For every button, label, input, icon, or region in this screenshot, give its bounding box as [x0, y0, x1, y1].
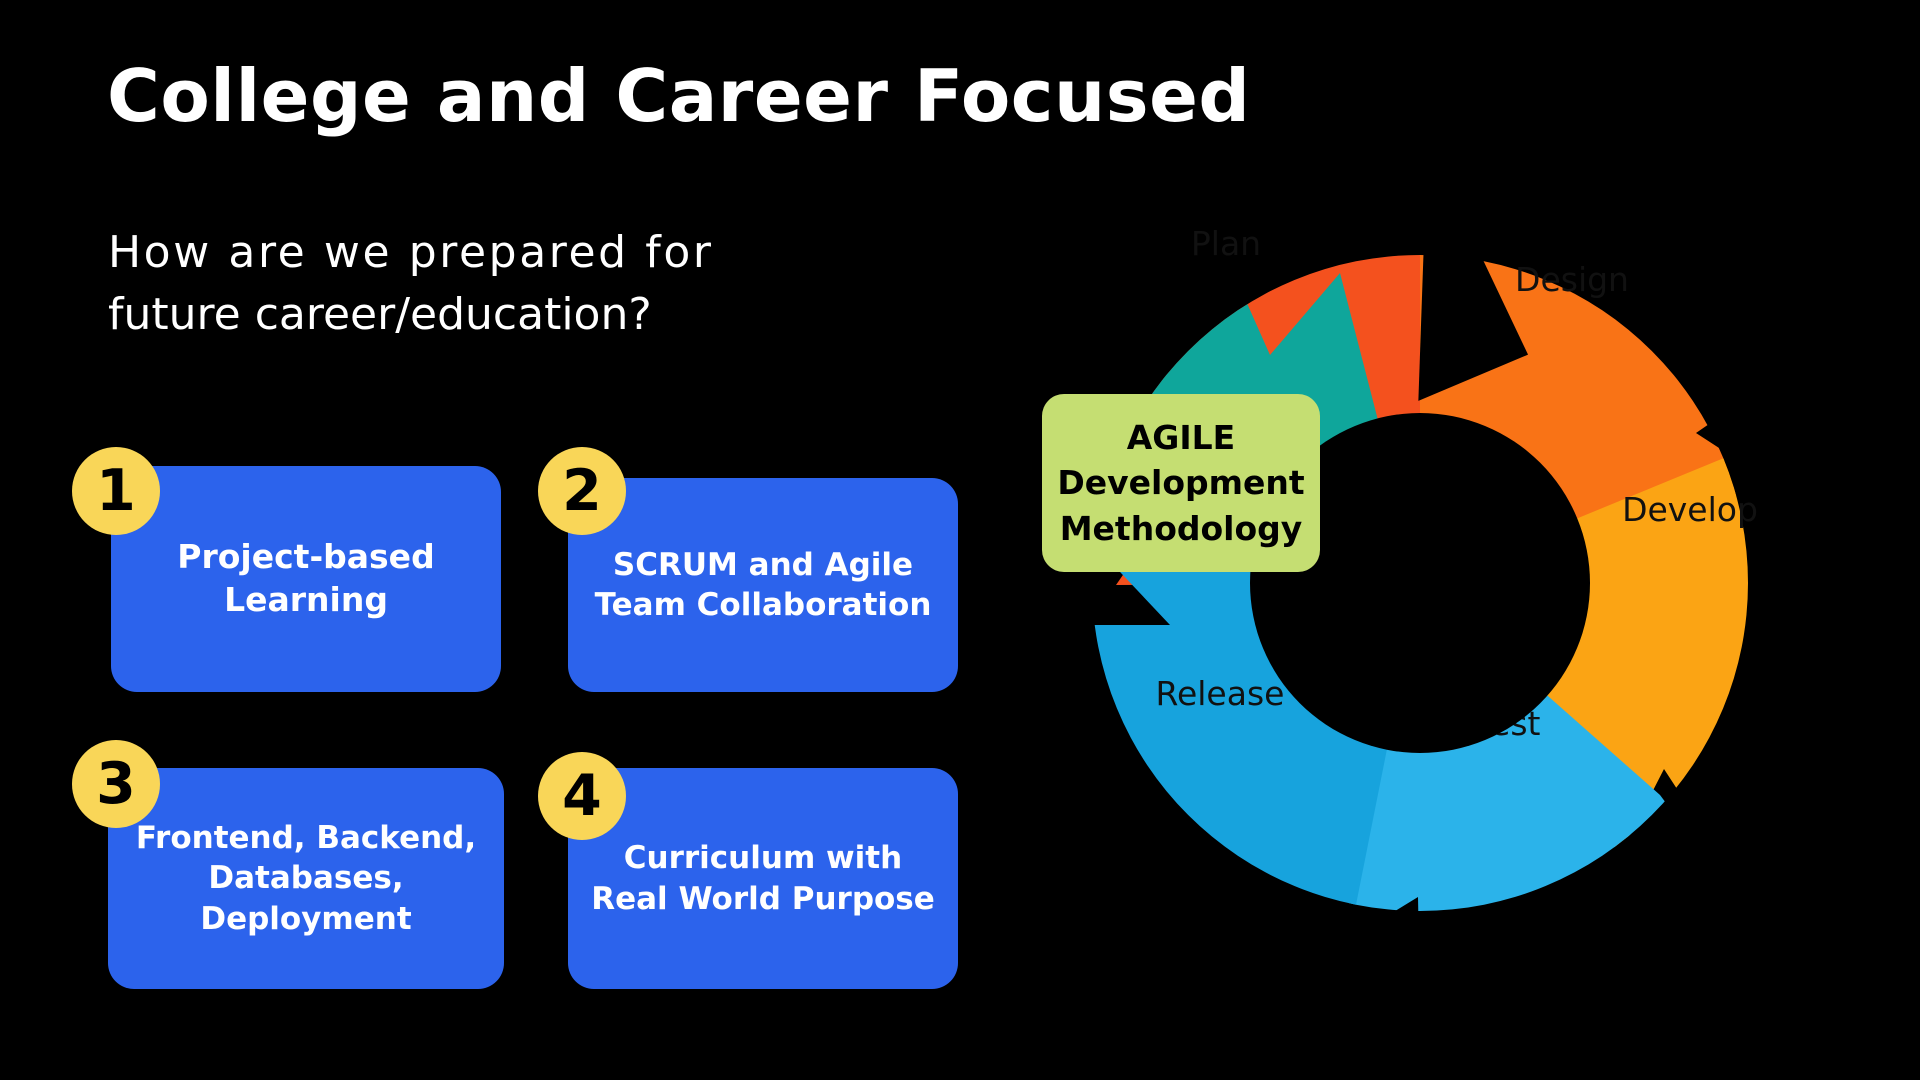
- feature-card-2-number-badge: 2: [538, 447, 626, 535]
- wheel-label-develop: Develop: [1622, 490, 1758, 529]
- feature-card-4[interactable]: Curriculum with Real World Purpose: [568, 768, 958, 989]
- feature-card-1-label: Project-based Learning: [129, 536, 483, 622]
- subtitle-line-1: How are we prepared for: [108, 222, 868, 284]
- agile-center-label: AGILE Development Methodology: [1042, 394, 1320, 572]
- feature-card-2-label: SCRUM and Agile Team Collaboration: [586, 545, 940, 626]
- wheel-label-plan: Plan: [1191, 224, 1261, 263]
- wheel-label-release: Release: [1156, 674, 1285, 713]
- agile-center-line-2: Development: [1057, 460, 1304, 506]
- agile-wheel-diagram: Plan Design Develop Test Release Feedbac…: [1020, 155, 1840, 1015]
- feature-card-4-label: Curriculum with Real World Purpose: [586, 838, 940, 919]
- feature-card-3[interactable]: Frontend, Backend, Databases, Deployment: [108, 768, 504, 989]
- feature-card-1[interactable]: Project-based Learning: [111, 466, 501, 692]
- agile-center-line-1: AGILE: [1127, 415, 1235, 461]
- feature-card-2[interactable]: SCRUM and Agile Team Collaboration: [568, 478, 958, 692]
- page-title: College and Career Focused: [107, 58, 1307, 136]
- feature-card-3-number-badge: 3: [72, 740, 160, 828]
- wheel-label-design: Design: [1515, 260, 1629, 299]
- subtitle-line-2: future career/education?: [108, 284, 868, 346]
- feature-card-4-number-badge: 4: [538, 752, 626, 840]
- feature-card-1-number-badge: 1: [72, 447, 160, 535]
- feature-card-3-label: Frontend, Backend, Databases, Deployment: [126, 818, 486, 939]
- slide-canvas: College and Career Focused How are we pr…: [0, 0, 1920, 1080]
- agile-center-line-3: Methodology: [1060, 506, 1303, 552]
- agile-wheel-segments-svg: Plan Design Develop Test Release Feedbac…: [1020, 155, 1840, 1015]
- page-subtitle: How are we prepared for future career/ed…: [108, 222, 868, 347]
